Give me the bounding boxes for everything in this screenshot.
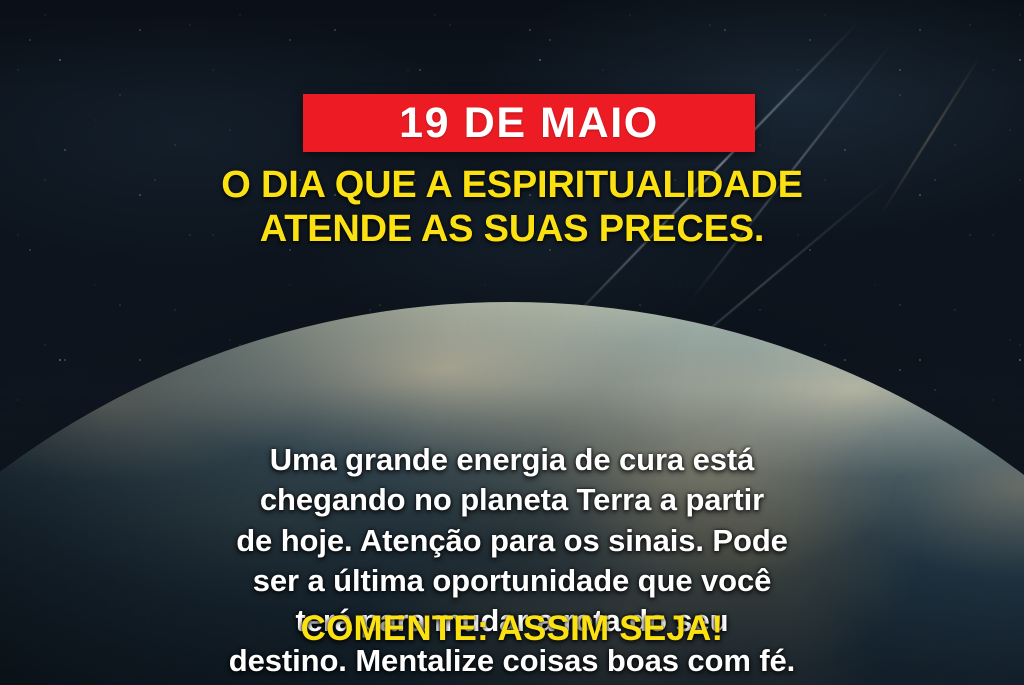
poster-image: 19 DE MAIO O DIA QUE A ESPIRITUALIDADE A… xyxy=(0,0,1024,685)
headline-line-1: O DIA QUE A ESPIRITUALIDADE xyxy=(0,163,1024,207)
call-to-action: COMENTE: ASSIM SEJA! xyxy=(0,611,1024,646)
body-line-3: de hoje. Atenção para os sinais. Pode xyxy=(0,521,1024,561)
body-line-4: ser a última oportunidade que você xyxy=(0,561,1024,601)
date-banner-label: 19 DE MAIO xyxy=(399,102,659,145)
headline: O DIA QUE A ESPIRITUALIDADE ATENDE AS SU… xyxy=(0,163,1024,251)
date-banner: 19 DE MAIO xyxy=(303,94,755,152)
poster-content: 19 DE MAIO O DIA QUE A ESPIRITUALIDADE A… xyxy=(0,0,1024,685)
body-line-1: Uma grande energia de cura está xyxy=(0,440,1024,480)
headline-line-2: ATENDE AS SUAS PRECES. xyxy=(0,207,1024,251)
body-line-2: chegando no planeta Terra a partir xyxy=(0,480,1024,520)
